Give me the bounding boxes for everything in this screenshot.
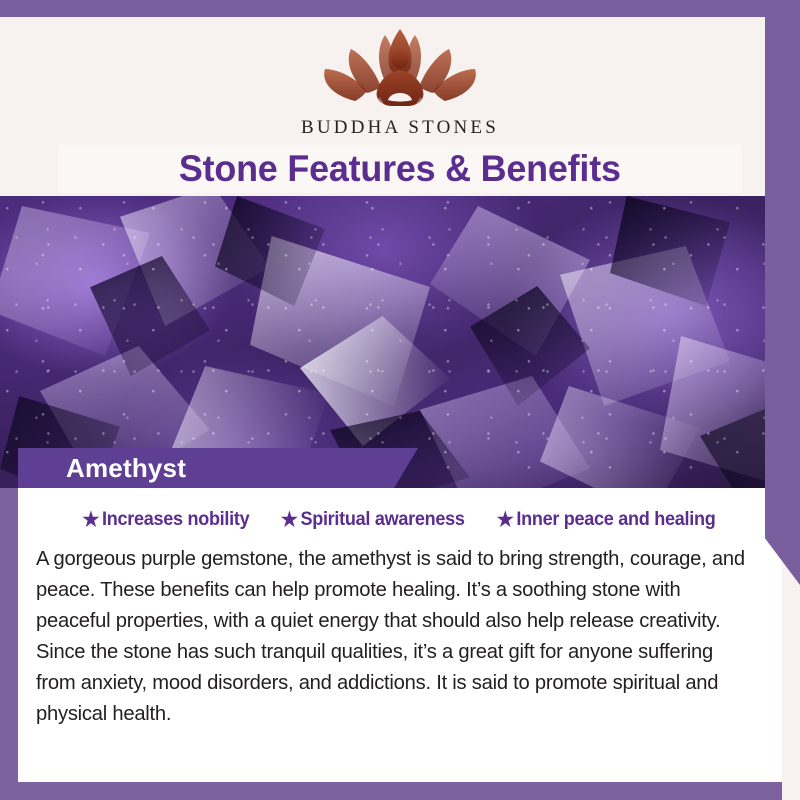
lotus-meditation-icon — [315, 23, 485, 115]
star-icon: ★ — [281, 510, 298, 530]
feature-label: Increases nobility — [102, 509, 249, 531]
frame-border-top — [0, 0, 800, 17]
content-section: ★ Increases nobility ★ Spiritual awarene… — [18, 488, 782, 782]
feature-label: Inner peace and healing — [517, 509, 716, 531]
star-icon: ★ — [497, 510, 514, 530]
product-infographic: BUDDHA STONES Stone Features & Benefits — [0, 0, 800, 800]
photo-vignette — [0, 196, 800, 488]
stone-name-banner: Amethyst — [18, 448, 418, 488]
frame-border-right — [765, 0, 800, 585]
stone-description: A gorgeous purple gemstone, the amethyst… — [36, 543, 753, 729]
brand-name: BUDDHA STONES — [301, 117, 499, 139]
brand-logo: BUDDHA STONES — [0, 23, 800, 139]
feature-item-1: ★ Spiritual awareness — [281, 509, 465, 531]
page-title: Stone Features & Benefits — [179, 148, 621, 190]
feature-item-2: ★ Inner peace and healing — [497, 509, 716, 531]
amethyst-photo — [0, 196, 800, 488]
frame-border-left — [0, 488, 18, 800]
stone-name: Amethyst — [66, 453, 186, 484]
star-icon: ★ — [83, 510, 100, 530]
feature-list: ★ Increases nobility ★ Spiritual awarene… — [18, 509, 782, 531]
header-section: BUDDHA STONES Stone Features & Benefits — [0, 17, 800, 196]
frame-border-bottom — [0, 782, 782, 800]
feature-item-0: ★ Increases nobility — [83, 509, 250, 531]
feature-label: Spiritual awareness — [301, 509, 465, 531]
title-banner: Stone Features & Benefits — [58, 145, 742, 193]
